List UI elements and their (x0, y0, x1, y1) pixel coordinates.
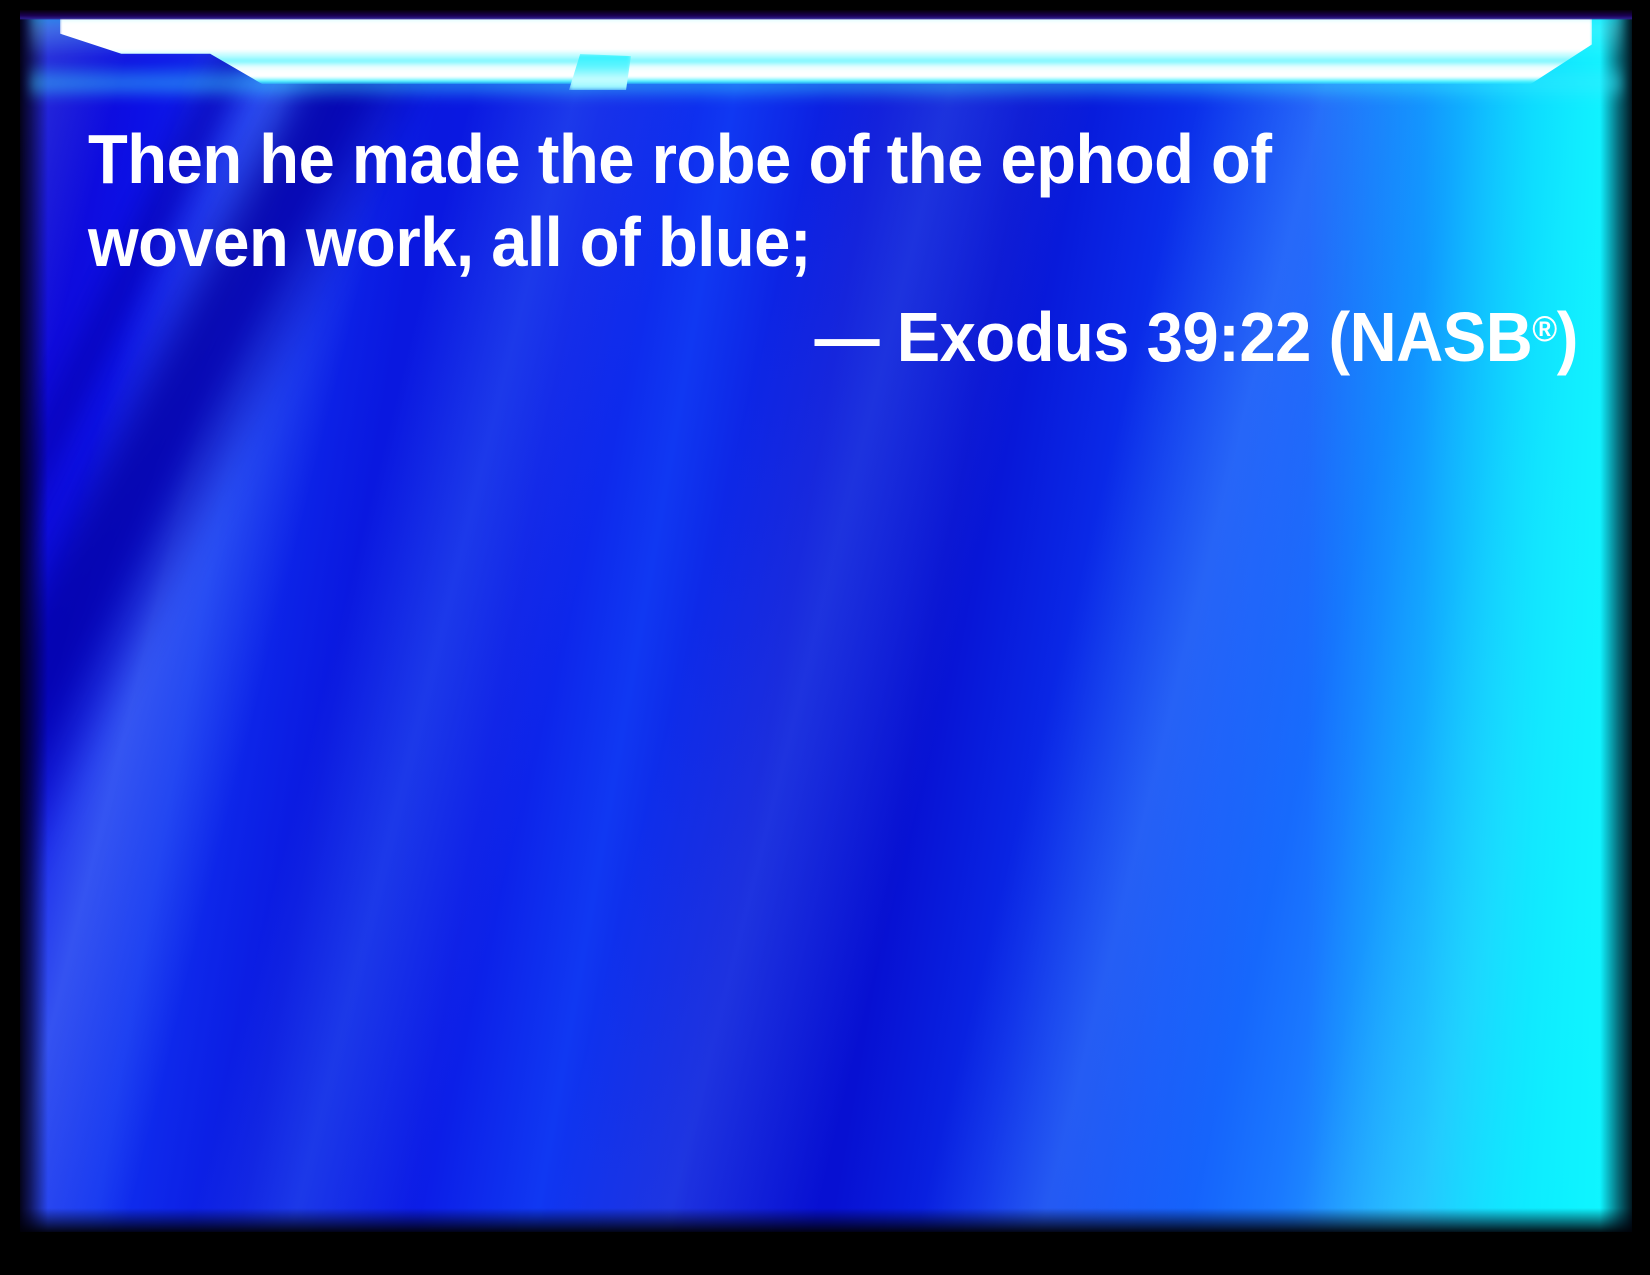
background-left-rim-shadow (20, 10, 48, 1232)
background-bottom-rim-shadow (20, 1208, 1632, 1232)
background-right-rim-shadow (1600, 10, 1632, 1232)
slide-artboard: Then he made the robe of the ephod of wo… (20, 10, 1632, 1232)
verse-attribution-suffix: ) (1557, 298, 1578, 376)
verse-line-1: Then he made the robe of the ephod of (88, 118, 1474, 201)
verse-line-2: woven work, all of blue; (88, 201, 1474, 284)
registered-trademark-icon: ® (1532, 308, 1556, 349)
verse-text-block: Then he made the robe of the ephod of wo… (88, 118, 1578, 379)
verse-attribution-prefix: — Exodus 39:22 (NASB (814, 298, 1532, 376)
verse-attribution: — Exodus 39:22 (NASB®) (192, 287, 1578, 379)
verse-slide: Then he made the robe of the ephod of wo… (0, 0, 1650, 1275)
